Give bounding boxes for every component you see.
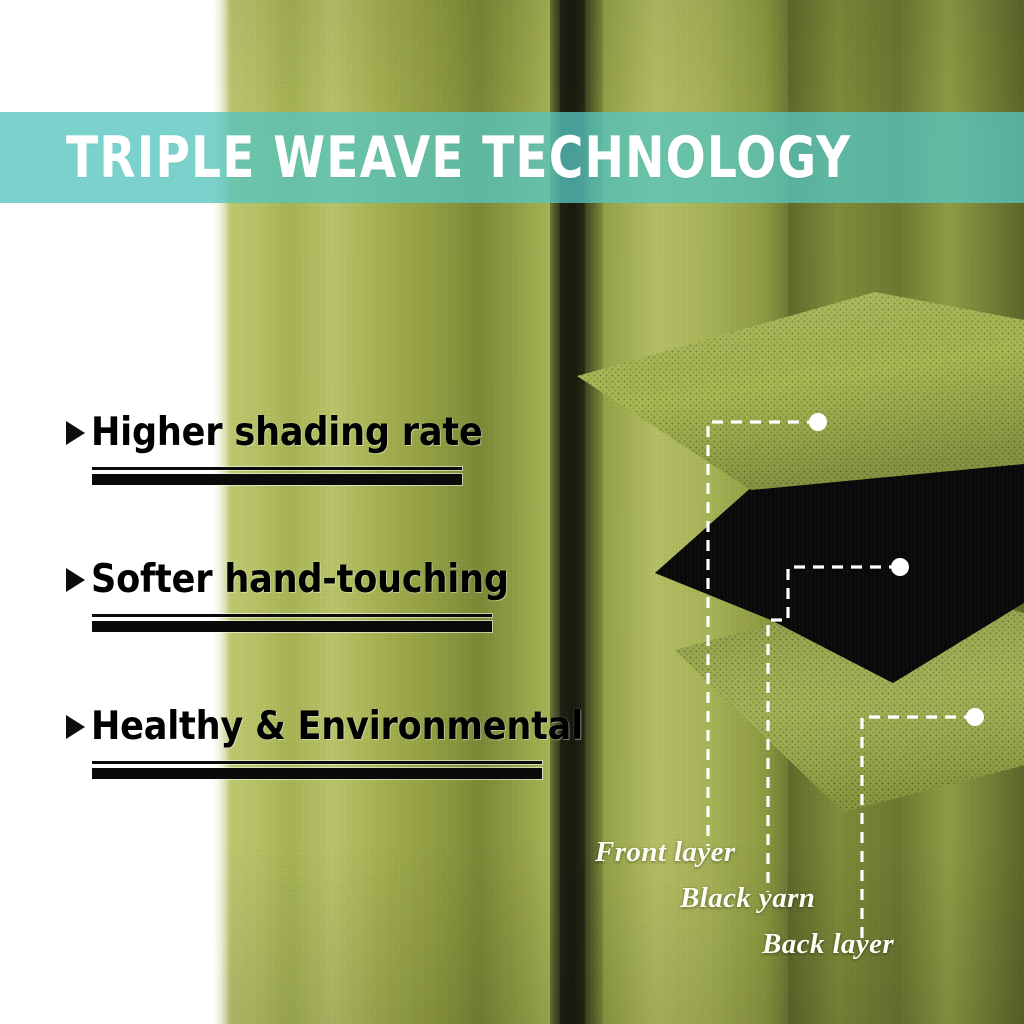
underline-thick <box>92 768 542 779</box>
diagram-label-black-yarn: Black yarn <box>680 882 815 915</box>
underline-thin <box>92 761 542 764</box>
underline-thick <box>92 474 462 485</box>
diagram-label-front-layer: Front layer <box>595 836 736 869</box>
feature-label: Softer hand-touching <box>91 557 509 602</box>
feature-underline <box>92 467 462 485</box>
underline-thin <box>92 614 492 617</box>
infographic-canvas: Front layer Black yarn Back layer TRIPLE… <box>0 0 1024 1024</box>
feature-item: Higher shading rate <box>0 410 600 485</box>
feature-item: Healthy & Environmental <box>0 704 600 779</box>
underline-thin <box>92 467 462 470</box>
diagram-label-back-layer: Back layer <box>762 928 894 961</box>
feature-label: Higher shading rate <box>91 410 483 455</box>
underline-thick <box>92 621 492 632</box>
feature-item: Softer hand-touching <box>0 557 600 632</box>
feature-underline <box>92 614 492 632</box>
title-banner: TRIPLE WEAVE TECHNOLOGY <box>0 112 1024 203</box>
triangle-right-icon <box>66 568 85 592</box>
page-title: TRIPLE WEAVE TECHNOLOGY <box>66 125 851 191</box>
triangle-right-icon <box>66 715 85 739</box>
feature-underline <box>92 761 542 779</box>
feature-label: Healthy & Environmental <box>91 704 583 749</box>
triangle-right-icon <box>66 421 85 445</box>
feature-list: Higher shading rate Softer hand-touching… <box>0 410 600 851</box>
